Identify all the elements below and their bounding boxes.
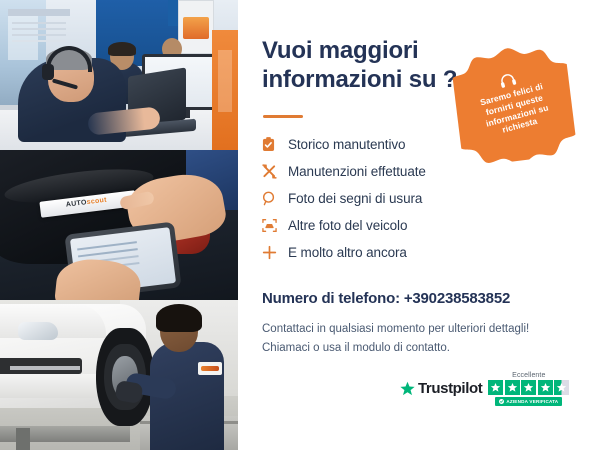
strip-text-accent: scout — [86, 197, 107, 206]
contact-copy-line-2: Chiamaci o usa il modulo di contatto. — [262, 339, 582, 358]
orange-banner-shape — [212, 30, 238, 150]
list-item: Storico manutentivo — [262, 131, 562, 158]
plus-icon — [262, 245, 288, 260]
headset-cup-shape — [42, 64, 54, 80]
chrome-trim-shape — [10, 366, 80, 370]
list-item: Foto dei segni di usura — [262, 185, 562, 212]
trustpilot-logo: Trustpilot — [400, 380, 482, 397]
list-item-label: E molto altro ancora — [288, 245, 407, 260]
trustpilot-star-icon — [400, 381, 415, 396]
list-item-label: Storico manutentivo — [288, 137, 405, 152]
agent-mid-hair-shape — [108, 42, 136, 56]
star-filled-icon — [538, 380, 553, 395]
poster-shape — [178, 0, 214, 54]
content-panel: Vuoi maggiori informazioni su ? Saremo f… — [238, 0, 600, 450]
contact-copy-line-1: Contattaci in qualsiasi momento per ulte… — [262, 320, 582, 339]
list-item-label: Manutenzioni effettuate — [288, 164, 426, 179]
list-item: E molto altro ancora — [262, 239, 562, 266]
trustpilot-stars — [488, 380, 569, 395]
star-filled-icon — [488, 380, 503, 395]
workshop-lift-photo — [0, 300, 238, 450]
vehicle-inspection-photo: AUTOscout — [0, 150, 238, 300]
star-half-icon — [554, 380, 569, 395]
list-item-label: Foto dei segni di usura — [288, 191, 422, 206]
feature-list: Storico manutentivo Manutenzioni effettu… — [262, 131, 562, 266]
call-center-photo — [0, 0, 238, 150]
mechanic-logo-badge-shape — [198, 362, 222, 375]
car-scan-icon — [262, 218, 288, 233]
status-badge: AZIENDA VERIFICATA — [495, 397, 562, 406]
trustpilot-wordmark: Trustpilot — [418, 380, 482, 397]
list-item: Manutenzioni effettuate — [262, 158, 562, 185]
list-item-label: Altre foto del veicolo — [288, 218, 407, 233]
strip-text-dark: AUTO — [66, 199, 88, 208]
lift-post-shape — [16, 428, 30, 450]
magnifier-icon — [262, 191, 288, 206]
clipboard-check-icon — [262, 137, 288, 152]
headlight-shape — [18, 322, 58, 340]
trustpilot-score-block: Eccellente AZIENDA VERIFICATA — [488, 372, 569, 406]
star-filled-icon — [521, 380, 536, 395]
photo-column: AUTOscout — [0, 0, 238, 450]
branded-strip-text: AUTOscout — [66, 197, 108, 209]
monitor-rows-shape — [12, 22, 66, 24]
monitor-toolbar-shape — [8, 9, 70, 16]
check-circle-icon — [499, 399, 504, 404]
promo-banner: AUTOscout — [0, 0, 600, 450]
phone-number[interactable]: Numero di telefono: +390238583852 — [262, 290, 510, 307]
trustpilot-rating[interactable]: Trustpilot Eccellente AZIENDA VERIFICATA — [400, 372, 569, 406]
list-item: Altre foto del veicolo — [262, 212, 562, 239]
crossed-tools-icon — [262, 164, 288, 179]
contact-copy: Contattaci in qualsiasi momento per ulte… — [262, 320, 582, 358]
mechanic-hair-shape — [156, 304, 202, 332]
title-underline — [263, 115, 303, 118]
page-title: Vuoi maggiori informazioni su ? — [262, 36, 477, 95]
status-badge-label: AZIENDA VERIFICATA — [506, 399, 558, 404]
star-filled-icon — [505, 380, 520, 395]
trustpilot-rating-label: Eccellente — [512, 372, 545, 379]
bumper-shape — [0, 374, 106, 398]
